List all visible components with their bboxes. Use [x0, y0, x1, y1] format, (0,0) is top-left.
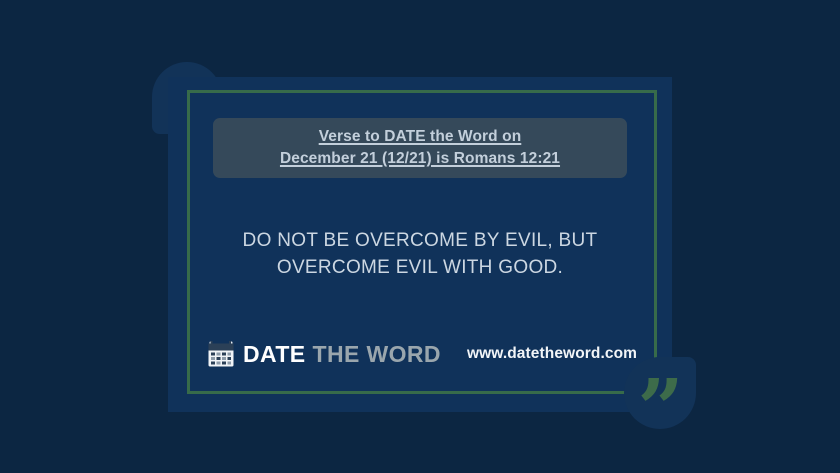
quote-close-icon: ”	[637, 368, 684, 448]
brand-logotype: DATETHE WORD	[243, 343, 441, 366]
title-line-1: Verse to DATE the Word on	[280, 126, 560, 148]
calendar-icon	[208, 341, 234, 367]
footer-brand-row: DATETHE WORD www.datetheword.com	[208, 341, 637, 367]
title-plaque: Verse to DATE the Word on December 21 (1…	[213, 118, 627, 178]
title-text: Verse to DATE the Word on December 21 (1…	[266, 126, 574, 170]
brand-date-label: DATE	[243, 341, 306, 367]
verse-line-1: DO NOT BE OVERCOME BY EVIL, BUT	[200, 228, 640, 255]
website-url[interactable]: www.datetheword.com	[467, 346, 637, 362]
verse-text: DO NOT BE OVERCOME BY EVIL, BUT OVERCOME…	[200, 228, 640, 282]
closing-quote-bubble: ”	[624, 357, 696, 429]
verse-line-2: OVERCOME EVIL WITH GOOD.	[200, 255, 640, 282]
slide-canvas: “ Verse to DATE the Word on December 21 …	[0, 0, 840, 473]
brand-theword-label: THE WORD	[313, 341, 441, 367]
title-line-2: December 21 (12/21) is Romans 12:21	[280, 148, 560, 170]
